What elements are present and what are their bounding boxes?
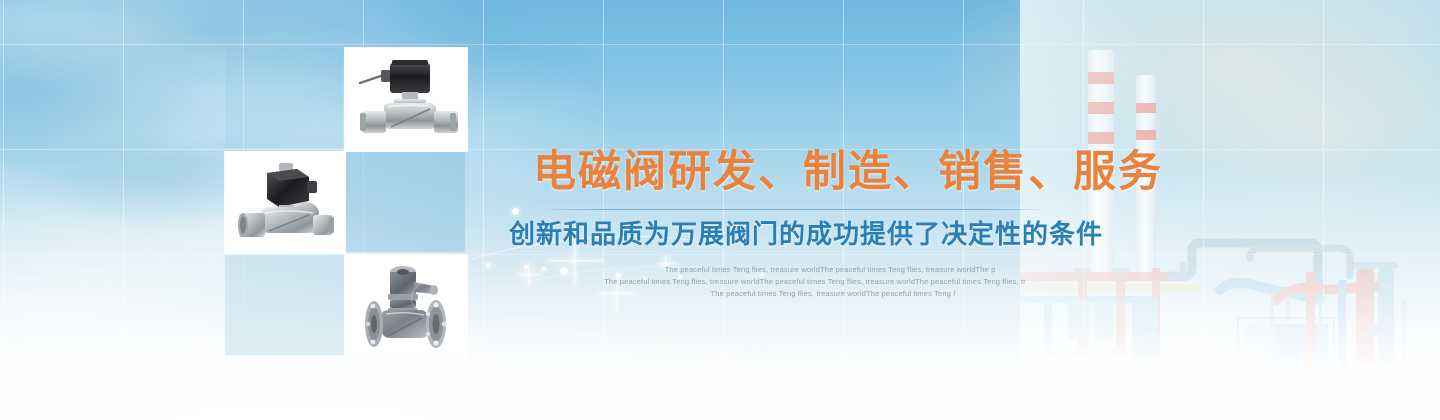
product-image-2 bbox=[225, 152, 345, 253]
blurb-line-1: The peaceful times Teng flies, treasure … bbox=[505, 265, 1125, 275]
blurb-line-2: The peaceful times Teng flies, treasure … bbox=[505, 277, 1125, 287]
accent-tile-lower bbox=[225, 255, 345, 355]
banner-blurb: The peaceful times Teng flies, treasure … bbox=[505, 265, 1125, 299]
accent-dot bbox=[512, 208, 519, 215]
solenoid-valve-angled-icon bbox=[235, 161, 335, 245]
blurb-line-3: The peaceful times Teng flies, treasure … bbox=[505, 289, 1125, 299]
banner-copy: 电磁阀研发、制造、销售、服务 创新和品质为万展阀门的成功提供了决定性的条件 Th… bbox=[505, 150, 1125, 301]
flange-left bbox=[365, 301, 383, 347]
product-image-1 bbox=[345, 48, 467, 151]
accent-tile-upper bbox=[345, 152, 465, 252]
bokeh-dot bbox=[486, 263, 491, 268]
hero-banner: 电磁阀研发、制造、销售、服务 创新和品质为万展阀门的成功提供了决定性的条件 Th… bbox=[0, 0, 1440, 420]
product-thumbnail-1[interactable] bbox=[345, 48, 467, 151]
product-image-3 bbox=[345, 255, 467, 358]
headline-divider bbox=[543, 209, 1043, 210]
accent-tile-left bbox=[225, 48, 343, 148]
product-thumbnail-2[interactable] bbox=[225, 152, 345, 253]
solenoid-valve-flanged-icon bbox=[354, 262, 458, 352]
banner-headline: 电磁阀研发、制造、销售、服务 bbox=[533, 150, 1125, 195]
product-thumbnail-3[interactable] bbox=[345, 255, 467, 358]
flange-right bbox=[426, 300, 447, 348]
solenoid-valve-threaded-icon bbox=[354, 57, 458, 143]
banner-subheadline: 创新和品质为万展阀门的成功提供了决定性的条件 bbox=[509, 220, 1125, 249]
